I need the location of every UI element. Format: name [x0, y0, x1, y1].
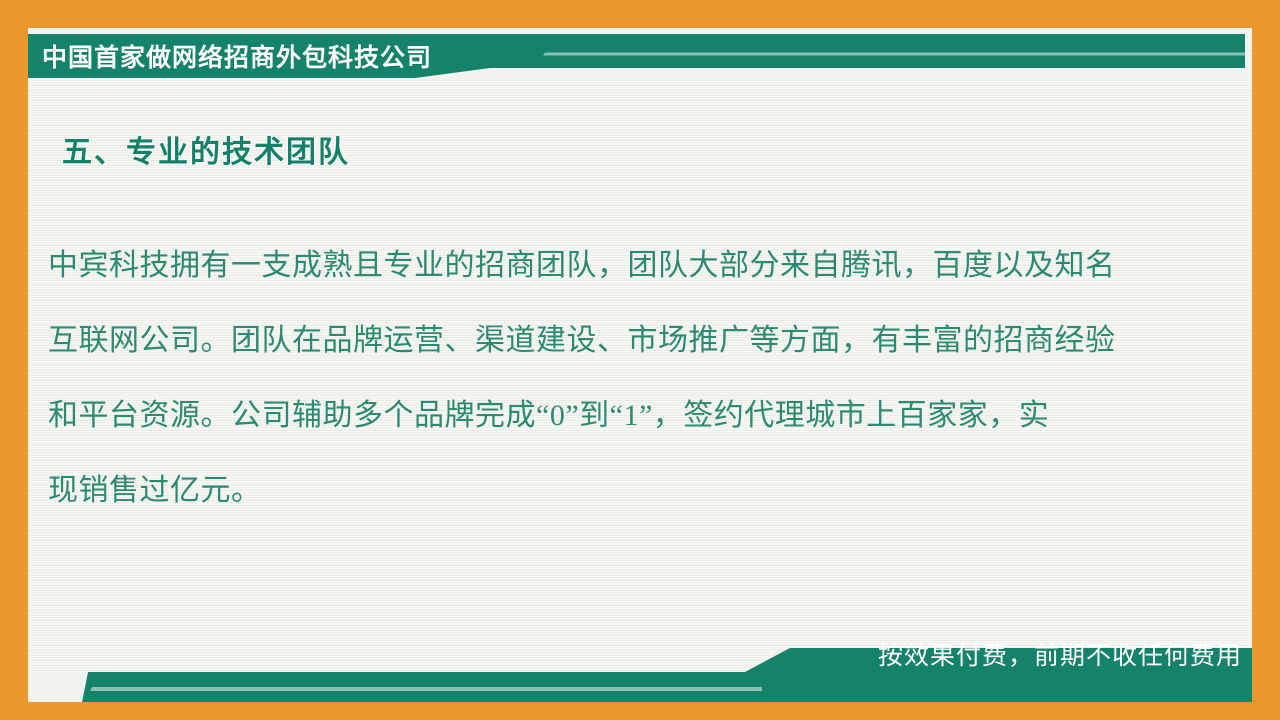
body-line: 互联网公司。团队在品牌运营、渠道建设、市场推广等方面，有丰富的招商经验 [48, 303, 1183, 378]
section-heading: 五、专业的技术团队 [62, 133, 350, 173]
body-line: 现销售过亿元。 [48, 453, 1183, 528]
slide-canvas: 中国首家做网络招商外包科技公司 五、专业的技术团队 中宾科技拥有一支成熟且专业的… [0, 0, 1280, 720]
body-line: 和平台资源。公司辅助多个品牌完成“0”到“1”，签约代理城市上百家家，实 [48, 378, 1183, 453]
body-paragraph: 中宾科技拥有一支成熟且专业的招商团队，团队大部分来自腾讯，百度以及知名 互联网公… [48, 228, 1183, 528]
body-line: 中宾科技拥有一支成熟且专业的招商团队，团队大部分来自腾讯，百度以及知名 [48, 228, 1183, 303]
